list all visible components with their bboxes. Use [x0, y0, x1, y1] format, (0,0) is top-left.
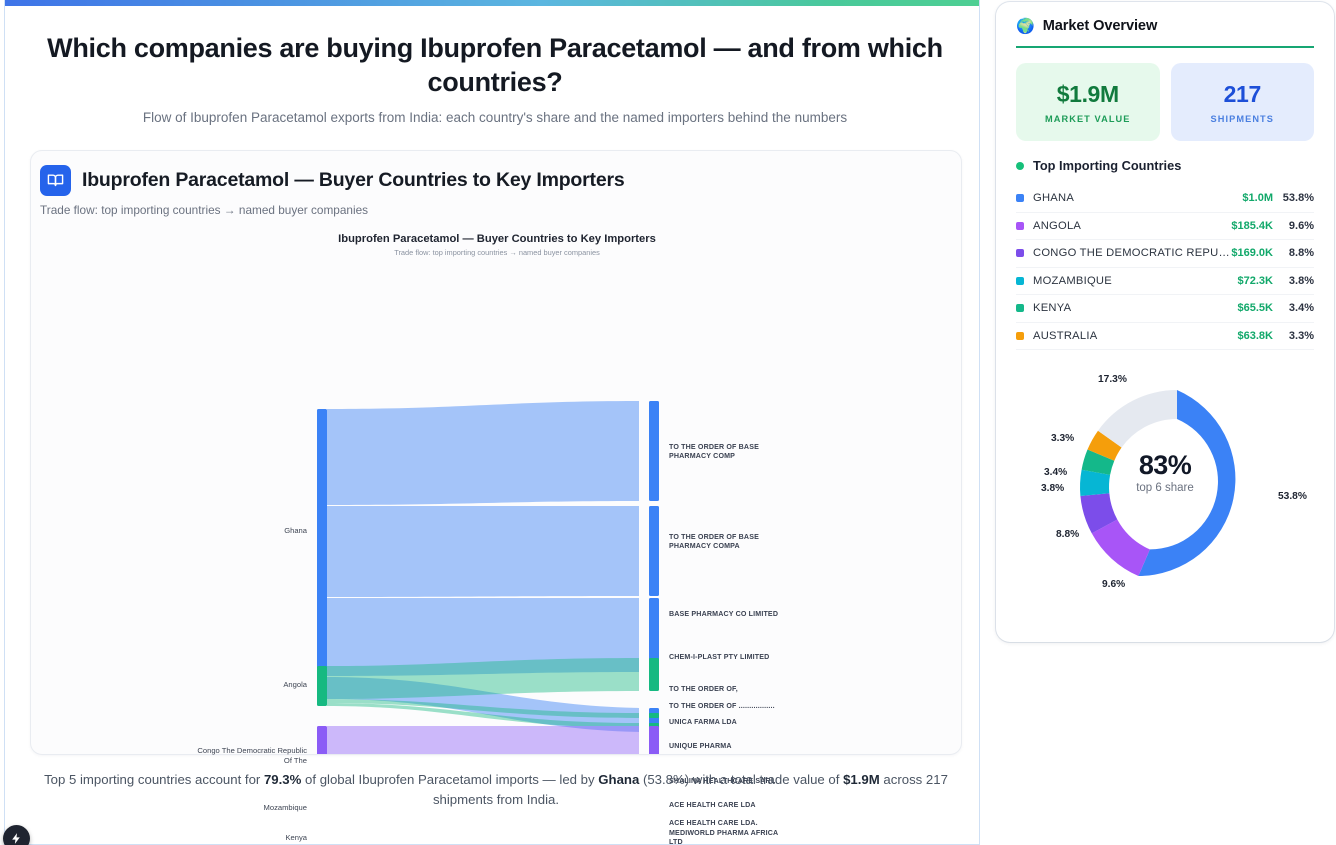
card-subtitle: Trade flow: top importing countries → na… — [40, 203, 368, 217]
country-row[interactable]: MOZAMBIQUE$72.3K3.8% — [1016, 268, 1314, 296]
sankey-svg: .nd { } — [31, 229, 963, 754]
sankey-source-label-kenya: Kenya — [197, 833, 307, 843]
sankey-source-nodes-2 — [317, 666, 327, 754]
country-percent: 3.8% — [1280, 275, 1314, 287]
section-dot-icon — [1016, 162, 1024, 170]
country-color-swatch — [1016, 194, 1024, 202]
country-value: $1.0M — [1242, 192, 1273, 204]
market-overview-panel: 🌍 Market Overview $1.9M MARKET VALUE 217… — [996, 2, 1334, 642]
donut-label-53: 53.8% — [1278, 491, 1307, 502]
sankey-target-label-1: TO THE ORDER OF BASE PHARMACY COMPA — [669, 533, 799, 551]
page-title: Which companies are buying Ibuprofen Par… — [45, 32, 945, 100]
sankey-source-label-congo: Congo The Democratic Republic Of The — [197, 746, 307, 765]
stat-card-shipments: 217 SHIPMENTS — [1171, 63, 1315, 141]
top-countries-title: Top Importing Countries — [1033, 158, 1181, 173]
sankey-target-label-2: BASE PHARMACY CO LIMITED — [669, 610, 819, 619]
country-color-swatch — [1016, 222, 1024, 230]
sankey-target-label-0: TO THE ORDER OF BASE PHARMACY COMP — [669, 443, 799, 461]
donut-label-33: 3.3% — [1051, 433, 1074, 444]
country-value: $65.5K — [1238, 302, 1273, 314]
donut-label-34: 3.4% — [1044, 467, 1067, 478]
country-percent: 9.6% — [1280, 220, 1314, 232]
globe-icon: 🌍 — [1016, 19, 1035, 34]
donut-label-88: 8.8% — [1056, 529, 1079, 540]
sankey-target-label-3: CHEM-I-PLAST PTY LIMITED — [669, 653, 819, 662]
footer-value: $1.9M — [843, 772, 880, 787]
country-percent: 3.3% — [1280, 330, 1314, 342]
card-header: Ibuprofen Paracetamol — Buyer Countries … — [40, 165, 625, 196]
donut-label-173: 17.3% — [1098, 374, 1127, 385]
country-color-swatch — [1016, 277, 1024, 285]
country-name: CONGO THE DEMOCRATIC REPUB… — [1033, 247, 1231, 259]
sankey-target-label-10: ACE HEALTH CARE LDA. — [669, 819, 819, 828]
stat-card-market-value: $1.9M MARKET VALUE — [1016, 63, 1160, 141]
main-panel: Which companies are buying Ibuprofen Par… — [4, 0, 980, 845]
footer-prefix: Top 5 importing countries account for — [44, 772, 264, 787]
sidebar-header: 🌍 Market Overview — [1016, 18, 1157, 34]
lightning-bolt-icon[interactable] — [3, 825, 30, 845]
card-title: Ibuprofen Paracetamol — Buyer Countries … — [82, 169, 625, 192]
country-value: $63.8K — [1238, 330, 1273, 342]
country-color-swatch — [1016, 332, 1024, 340]
country-color-swatch — [1016, 249, 1024, 257]
country-row[interactable]: KENYA$65.5K3.4% — [1016, 295, 1314, 323]
donut-chart: 83% top 6 share 53.8% 9.6% 8.8% 3.8% 3.4… — [1014, 354, 1316, 624]
sidebar-divider — [1016, 46, 1314, 48]
country-list: GHANA$1.0M53.8%ANGOLA$185.4K9.6%CONGO TH… — [1016, 185, 1314, 350]
top-countries-header: Top Importing Countries — [1016, 158, 1181, 173]
country-color-swatch — [1016, 304, 1024, 312]
stat-cards: $1.9M MARKET VALUE 217 SHIPMENTS — [1016, 63, 1314, 141]
country-value: $185.4K — [1231, 220, 1273, 232]
shipments-label: SHIPMENTS — [1211, 114, 1275, 124]
footer-summary: Top 5 importing countries account for 79… — [35, 770, 957, 811]
country-name: KENYA — [1033, 302, 1238, 314]
country-name: AUSTRALIA — [1033, 330, 1238, 342]
footer-mid2: (53.8%) with a total trade value of — [639, 772, 843, 787]
country-row[interactable]: ANGOLA$185.4K9.6% — [1016, 213, 1314, 241]
market-value-amount: $1.9M — [1057, 81, 1119, 108]
book-map-icon — [40, 165, 71, 196]
sidebar-title: Market Overview — [1043, 18, 1158, 34]
accent-gradient-bar — [5, 0, 980, 6]
sankey-source-nodes — [317, 409, 327, 706]
sankey-chart-card: Ibuprofen Paracetamol — Buyer Countries … — [30, 150, 962, 755]
sankey-source-label-angola: Angola — [197, 680, 307, 690]
sankey-target-label-7: UNIQUE PHARMA — [669, 742, 819, 751]
donut-label-38: 3.8% — [1041, 483, 1064, 494]
footer-pct: 79.3% — [264, 772, 301, 787]
country-name: ANGOLA — [1033, 220, 1231, 232]
country-row[interactable]: CONGO THE DEMOCRATIC REPUB…$169.0K8.8% — [1016, 240, 1314, 268]
footer-country: Ghana — [598, 772, 639, 787]
country-percent: 8.8% — [1280, 247, 1314, 259]
shipments-count: 217 — [1224, 81, 1261, 108]
footer-mid1: of global Ibuprofen Paracetamol imports … — [301, 772, 598, 787]
sankey-source-label-ghana: Ghana — [197, 526, 307, 536]
sankey-target-label-11: MEDIWORLD PHARMA AFRICA LTD — [669, 829, 787, 845]
donut-label-96: 9.6% — [1102, 579, 1125, 590]
country-row[interactable]: AUSTRALIA$63.8K3.3% — [1016, 323, 1314, 351]
country-row[interactable]: GHANA$1.0M53.8% — [1016, 185, 1314, 213]
market-value-label: MARKET VALUE — [1045, 114, 1131, 124]
sankey-target-label-5: TO THE ORDER OF ................. — [669, 702, 809, 711]
sankey-target-nodes-2 — [649, 658, 659, 754]
sankey-plot: Ibuprofen Paracetamol — Buyer Countries … — [31, 229, 963, 754]
country-value: $169.0K — [1231, 247, 1273, 259]
country-name: MOZAMBIQUE — [1033, 275, 1238, 287]
country-percent: 3.4% — [1280, 302, 1314, 314]
country-name: GHANA — [1033, 192, 1242, 204]
country-percent: 53.8% — [1280, 192, 1314, 204]
country-value: $72.3K — [1238, 275, 1273, 287]
page-subtitle: Flow of Ibuprofen Paracetamol exports fr… — [45, 110, 945, 125]
sankey-target-label-6: UNICA FARMA LDA — [669, 718, 819, 727]
sankey-target-label-4: TO THE ORDER OF, — [669, 685, 819, 694]
